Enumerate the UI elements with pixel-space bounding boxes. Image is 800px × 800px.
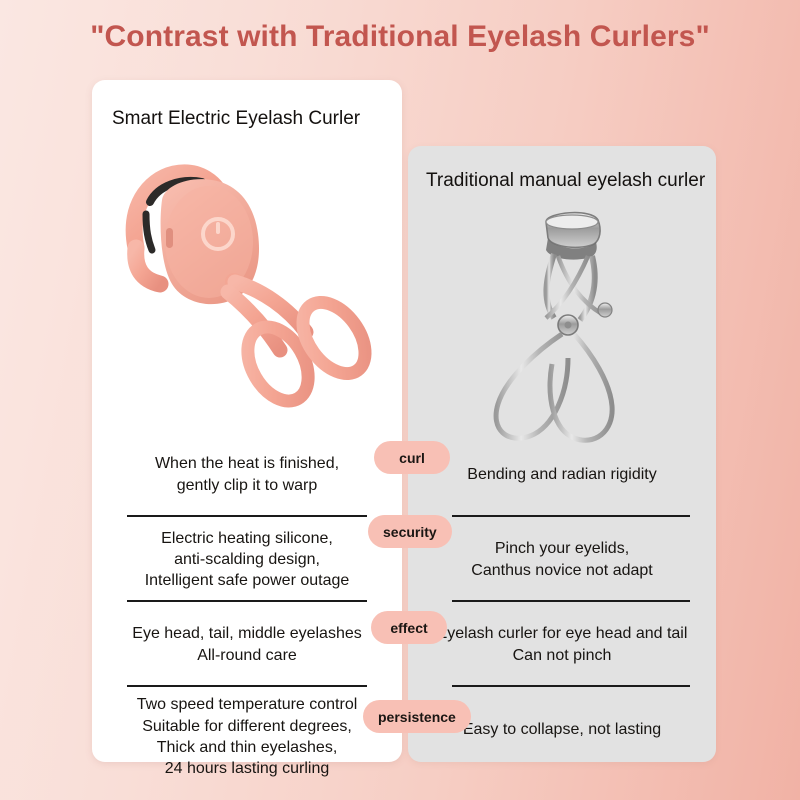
feature-text: When the heat is finished, gently clip i… xyxy=(135,453,359,496)
feature-row: When the heat is finished, gently clip i… xyxy=(92,432,402,517)
feature-row: Pinch your eyelids, Canthus novice not a… xyxy=(408,517,716,602)
feature-row: Bending and radian rigidity xyxy=(408,432,716,517)
feature-text: Two speed temperature control Suitable f… xyxy=(117,694,378,779)
left-feature-rows: When the heat is finished, gently clip i… xyxy=(92,432,402,787)
pink-electric-eyelash-curler-icon xyxy=(102,142,392,412)
badge-effect[interactable]: effect xyxy=(371,611,447,644)
badge-security[interactable]: security xyxy=(368,515,452,548)
feature-text: Eye head, tail, middle eyelashes All-rou… xyxy=(112,623,381,666)
traditional-curler-card: Traditional manual eyelash curler xyxy=(408,146,716,762)
feature-text: Electric heating silicone, anti-scalding… xyxy=(125,528,370,592)
right-card-heading: Traditional manual eyelash curler xyxy=(426,170,705,192)
silver-manual-eyelash-curler-icon xyxy=(442,192,682,457)
feature-row: Electric heating silicone, anti-scalding… xyxy=(92,517,402,602)
smart-electric-curler-card: Smart Electric Eyelash Curler xyxy=(92,80,402,762)
badge-curl[interactable]: curl xyxy=(374,441,450,474)
feature-text: Bending and radian rigidity xyxy=(447,464,676,485)
feature-row: Two speed temperature control Suitable f… xyxy=(92,687,402,787)
feature-row: Eyelash curler for eye head and tail Can… xyxy=(408,602,716,687)
feature-text: Eyelash curler for eye head and tail Can… xyxy=(417,623,708,666)
feature-row: Eye head, tail, middle eyelashes All-rou… xyxy=(92,602,402,687)
feature-text: Easy to collapse, not lasting xyxy=(443,719,681,740)
left-card-heading: Smart Electric Eyelash Curler xyxy=(112,108,360,130)
badge-persistence[interactable]: persistence xyxy=(363,700,471,733)
page-title: "Contrast with Traditional Eyelash Curle… xyxy=(0,20,800,54)
feature-text: Pinch your eyelids, Canthus novice not a… xyxy=(451,538,672,581)
